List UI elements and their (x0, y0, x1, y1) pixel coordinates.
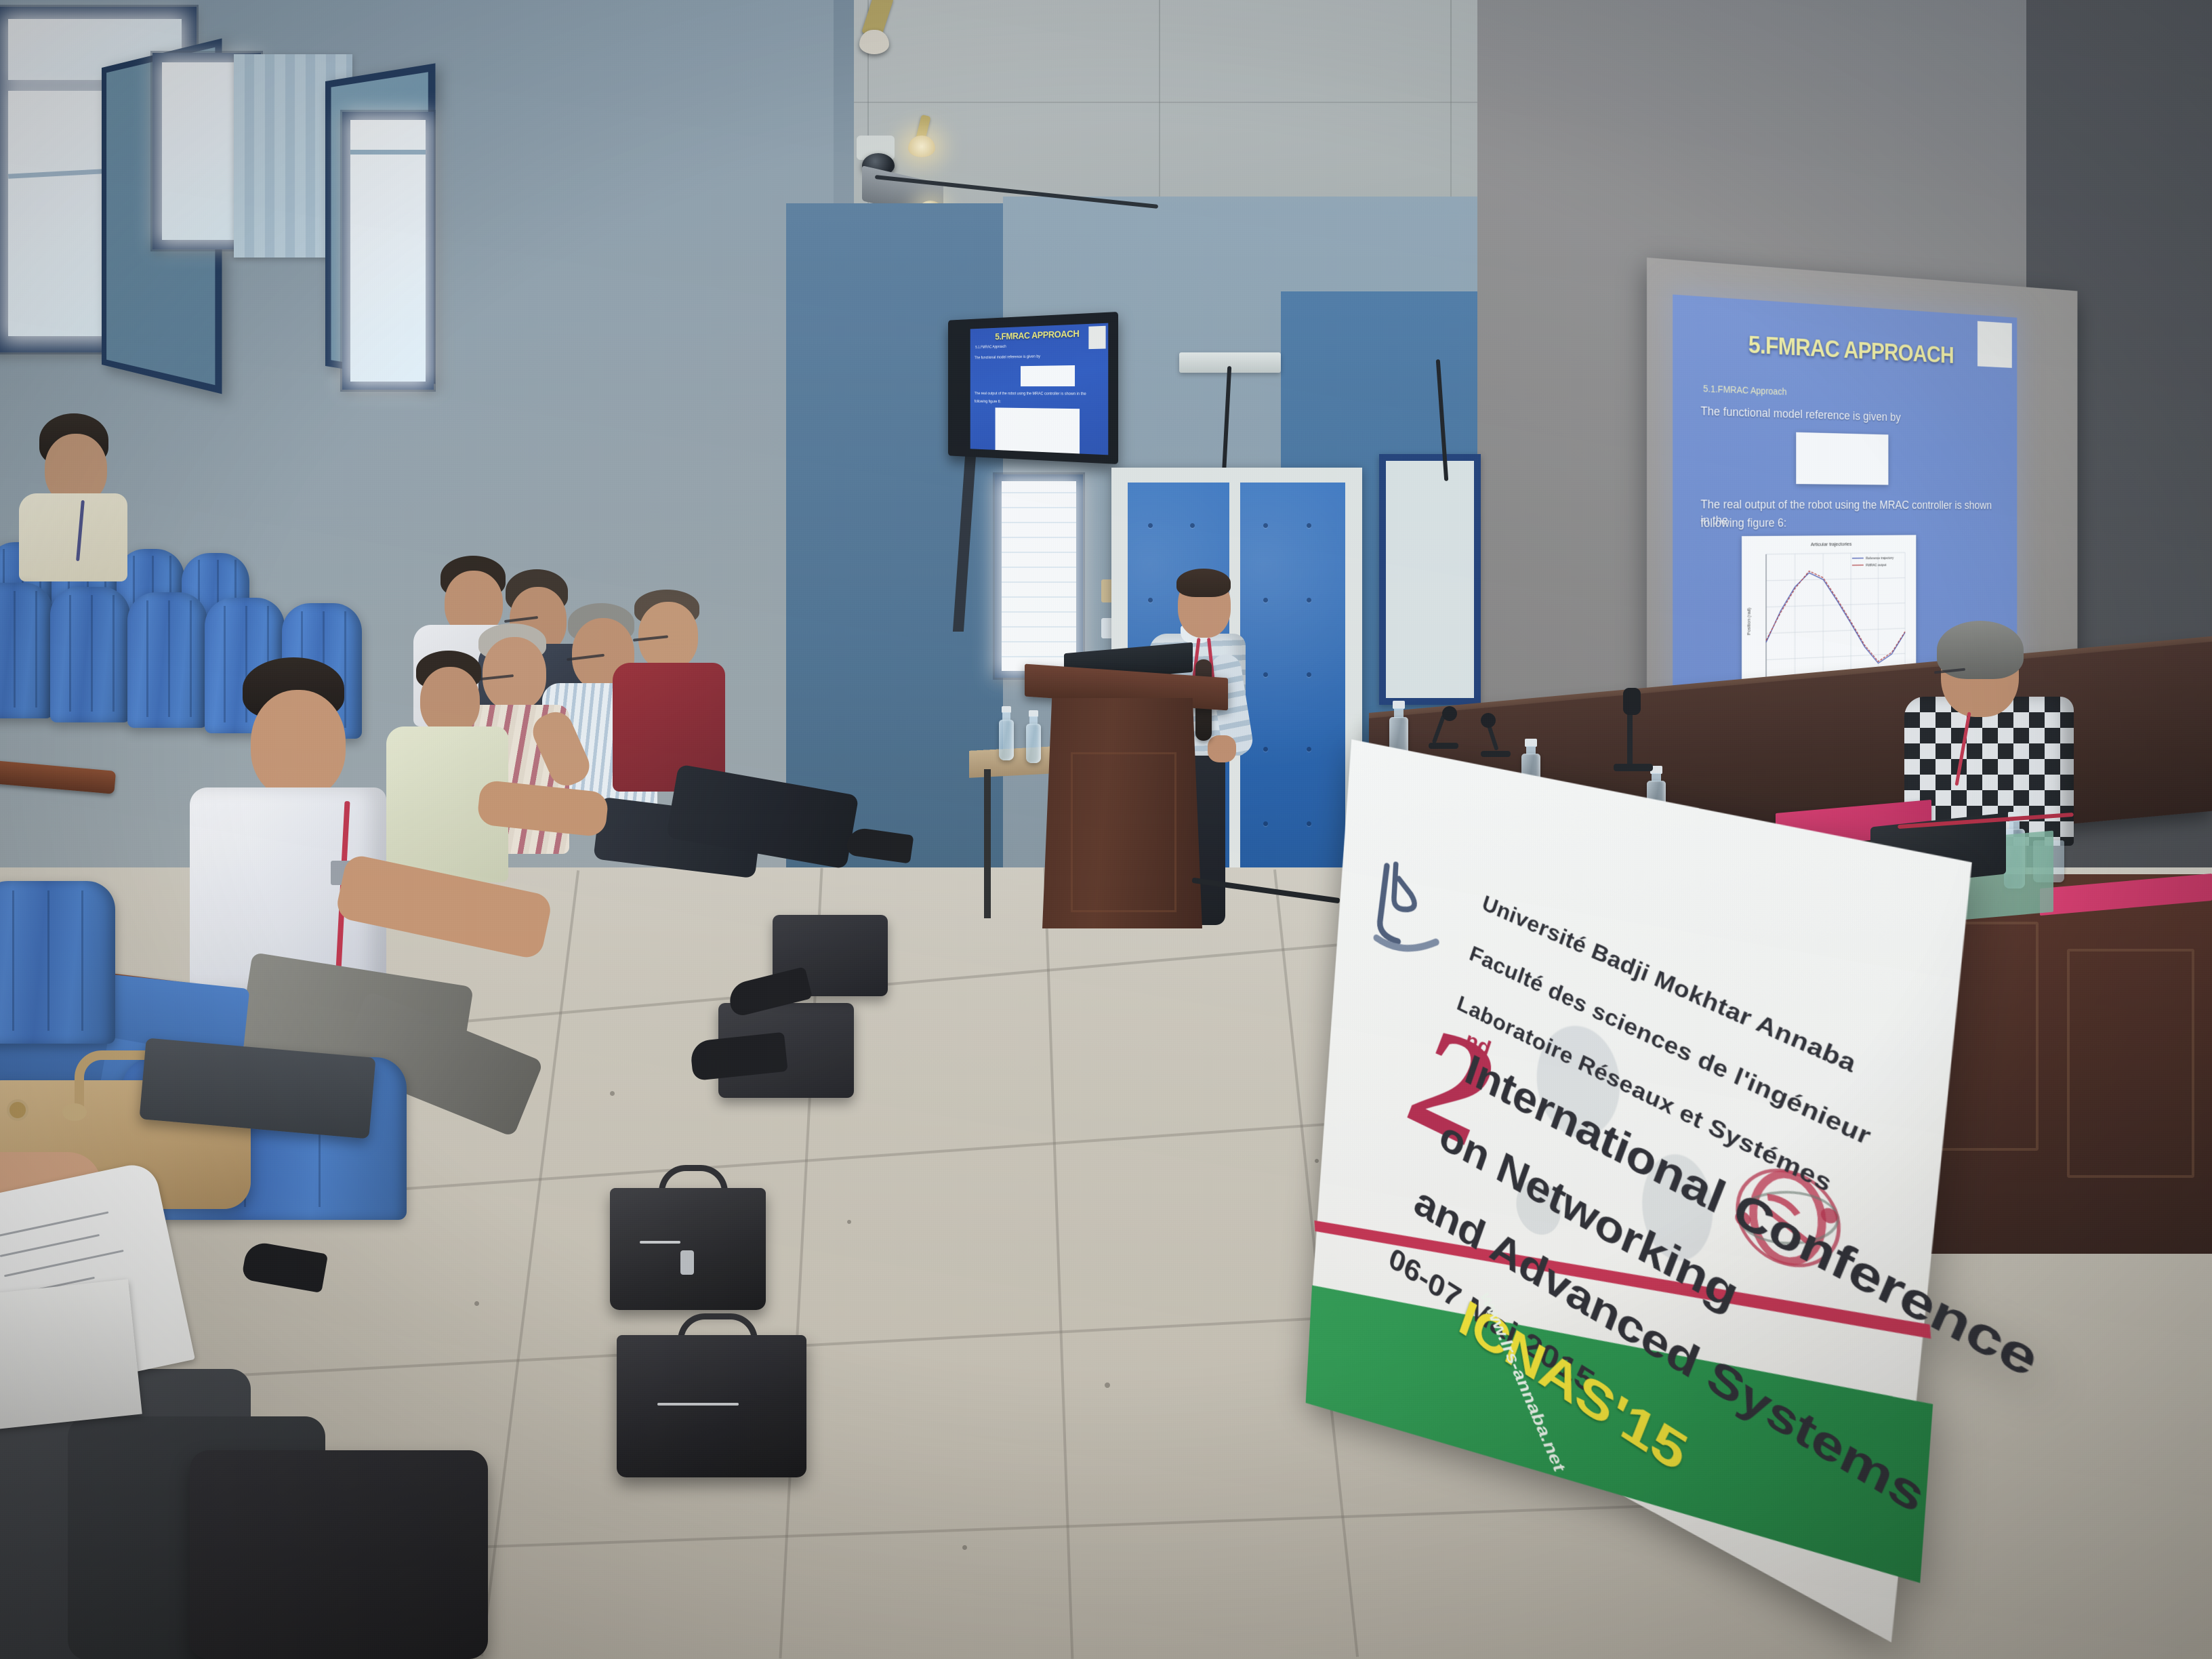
slide-line1: The functional model reference is given … (1700, 403, 1998, 428)
svg-text:Articular trajectories: Articular trajectories (1811, 541, 1852, 547)
audience-head (251, 690, 346, 798)
handbag-buckle (7, 1099, 28, 1121)
proceedings-booklet-pages (0, 1279, 142, 1431)
svg-text:Position (rad): Position (rad) (1747, 608, 1751, 635)
window-frame-3 (342, 112, 434, 390)
podium-lectern (1037, 671, 1216, 928)
window-frame-4 (995, 474, 1083, 678)
tv-slide-content: 5.FMRAC APPROACH 5.1.FMRAC Approach The … (970, 323, 1109, 455)
seat-back-front-left[interactable] (0, 881, 115, 1044)
briefcase-lock (680, 1250, 694, 1275)
tv-slide-logo (1088, 326, 1105, 349)
spotlight-head-1 (859, 30, 889, 54)
tv-slide-line2: The real output of the robot using the M… (975, 391, 1101, 396)
window-glass-5 (1002, 481, 1076, 671)
slide-line3: following figure 6: (1700, 515, 1998, 531)
slide-title: 5.FMRAC APPROACH (1673, 327, 2017, 371)
conference-room-photo: 5.FMRAC APPROACH 5.1.FMRAC Approach The … (0, 0, 2212, 1659)
slide-equation-box (1796, 432, 1888, 485)
svg-text:Reference trajectory: Reference trajectory (1866, 556, 1893, 560)
speaker-hair (1176, 569, 1231, 597)
tv-slide-title: 5.FMRAC APPROACH (970, 327, 1109, 344)
podium-panel (1071, 752, 1176, 912)
wall-frame-panel-1 (1379, 454, 1481, 705)
svg-text:FMRAC output: FMRAC output (1866, 564, 1887, 568)
tv-slide-subtitle: 5.1.FMRAC Approach (975, 345, 1006, 350)
slide-subtitle: 5.1.FMRAC Approach (1703, 383, 1786, 396)
spotlight-head-3 (908, 136, 935, 157)
tv-slide-line1: The functional model reference is given … (975, 353, 1101, 361)
lrs-logo (1363, 854, 1451, 970)
window-glass-4 (350, 120, 426, 382)
tv-monitor: 5.FMRAC APPROACH 5.1.FMRAC Approach The … (948, 312, 1118, 464)
handbag-clasp (62, 1103, 87, 1121)
side-table-leg-1 (984, 769, 991, 918)
tv-slide-line3: following figure 6: (975, 399, 1101, 406)
